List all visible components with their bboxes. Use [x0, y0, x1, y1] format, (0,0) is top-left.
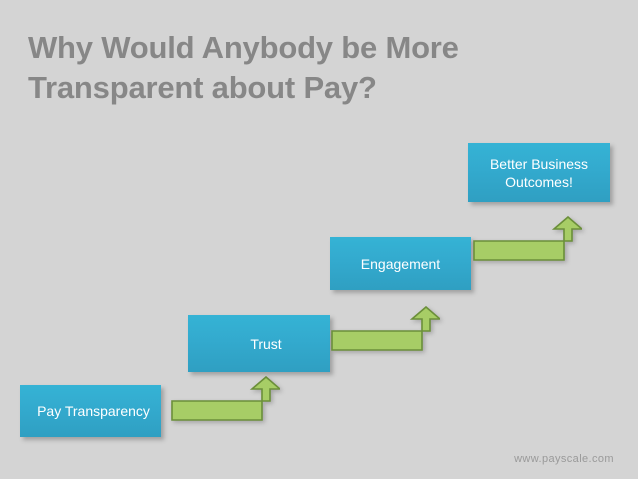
elbow-arrow-icon: [170, 376, 280, 424]
step-box-label: Engagement: [355, 255, 446, 273]
footer-url: www.payscale.com: [514, 453, 614, 465]
step-box-label: Better Business Outcomes!: [484, 155, 594, 191]
step-box-label: Pay Transparency: [31, 402, 156, 420]
step-box-label: Trust: [244, 335, 287, 353]
title-line-1: Why Would Anybody be More: [28, 28, 588, 68]
step-box-better-business-outcomes: Better Business Outcomes!: [468, 143, 610, 202]
elbow-arrow-icon: [330, 306, 440, 354]
elbow-arrow-icon: [472, 216, 582, 264]
page-title: Why Would Anybody be More Transparent ab…: [28, 28, 588, 108]
step-box-engagement: Engagement: [330, 237, 471, 290]
slide-canvas: Why Would Anybody be More Transparent ab…: [0, 0, 638, 479]
title-line-2: Transparent about Pay?: [28, 68, 588, 108]
step-box-pay-transparency: Pay Transparency: [20, 385, 161, 437]
step-box-trust: Trust: [188, 315, 330, 372]
